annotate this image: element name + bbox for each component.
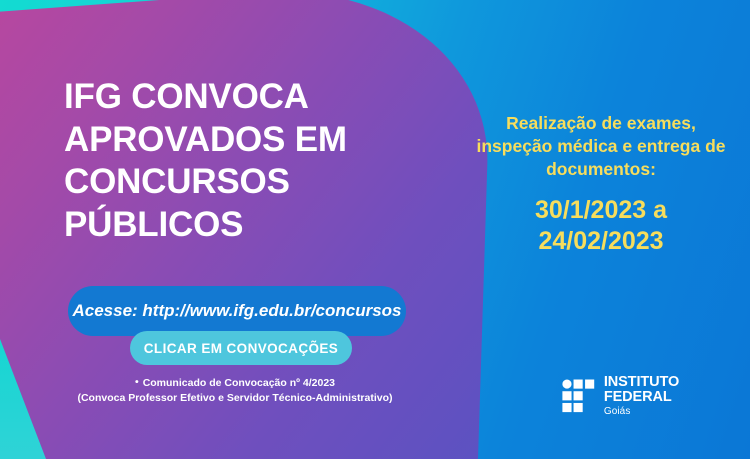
footnote-line-1: •Comunicado de Convocação nº 4/2023: [60, 376, 410, 391]
page-title: IFG CONVOCA APROVADOS EM CONCURSOS PÚBLI…: [64, 76, 444, 247]
banner-content: IFG CONVOCA APROVADOS EM CONCURSOS PÚBLI…: [0, 0, 750, 459]
logo-wordmark: INSTITUTO FEDERAL Goiás: [604, 375, 750, 417]
date-range-start: 30/1/2023 a: [466, 195, 736, 226]
logo-campus: Goiás: [604, 407, 750, 417]
exam-schedule-title: Realização de exames, inspeção médica e …: [466, 112, 736, 181]
instituto-federal-logo: INSTITUTO FEDERAL Goiás: [562, 375, 750, 417]
exam-schedule-dates: 30/1/2023 a 24/02/2023: [466, 195, 736, 256]
logo-name: INSTITUTO FEDERAL: [604, 375, 750, 404]
footnote-line-2: (Convoca Professor Efetivo e Servidor Té…: [60, 391, 410, 406]
footnote-line-1-text: Comunicado de Convocação nº 4/2023: [143, 377, 335, 389]
cta-button-label: CLICAR EM CONVOCAÇÕES: [144, 341, 338, 356]
bullet-icon: •: [135, 375, 139, 390]
ifg-announcement-banner: IFG CONVOCA APROVADOS EM CONCURSOS PÚBLI…: [0, 0, 750, 459]
website-url-pill[interactable]: Acesse: http://www.ifg.edu.br/concursos: [68, 286, 406, 336]
footnote: •Comunicado de Convocação nº 4/2023 (Con…: [60, 376, 410, 406]
clicar-em-convocacoes-button[interactable]: CLICAR EM CONVOCAÇÕES: [130, 331, 352, 365]
if-grid-logo-icon: [562, 379, 595, 413]
website-url-label: Acesse: http://www.ifg.edu.br/concursos: [72, 301, 401, 321]
date-range-end: 24/02/2023: [466, 226, 736, 257]
exam-schedule-panel: Realização de exames, inspeção médica e …: [466, 112, 736, 256]
